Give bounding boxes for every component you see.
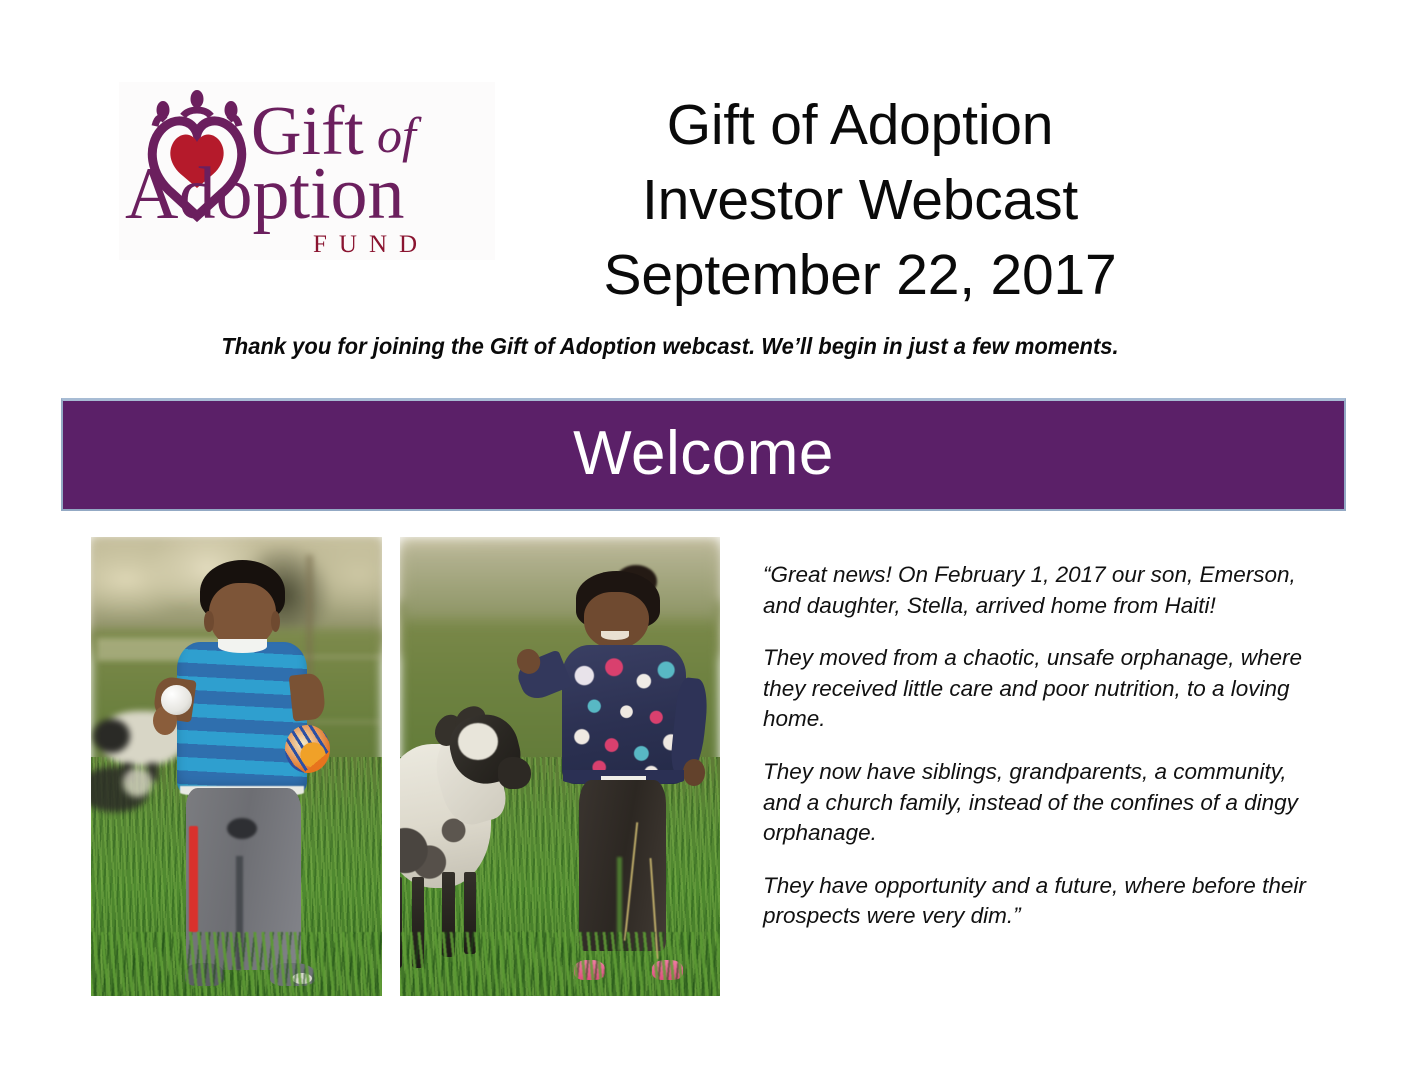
logo-line-2: Adoption <box>125 153 405 235</box>
lamb-head-wool <box>458 723 498 760</box>
welcome-banner: Welcome <box>61 398 1346 511</box>
foreground-grass <box>400 932 720 996</box>
boy-pants-shadow <box>227 818 257 839</box>
boy-pants-red-stripe <box>189 826 197 932</box>
boy-ear-right <box>271 611 280 632</box>
page-title: Gift of Adoption Investor Webcast Septem… <box>500 88 1220 314</box>
lamb-muzzle <box>498 757 532 789</box>
title-line-3: September 22, 2017 <box>500 238 1220 313</box>
testimonial-quote: “Great news! On February 1, 2017 our son… <box>763 560 1316 932</box>
girl-dark-leggings <box>579 780 666 952</box>
boy-ear-left <box>204 611 213 632</box>
foreground-grass <box>91 932 382 996</box>
gift-of-adoption-logo: Gift of Adoption FUND <box>119 82 495 260</box>
testimonial-paragraph-2: They moved from a chaotic, unsafe orphan… <box>763 643 1316 735</box>
testimonial-paragraph-1: “Great news! On February 1, 2017 our son… <box>763 560 1316 621</box>
testimonial-paragraph-3: They now have siblings, grandparents, a … <box>763 757 1316 849</box>
photo-boy-scene <box>91 537 382 996</box>
photo-girl-with-lamb <box>400 537 720 996</box>
photo-boy-with-ball <box>91 537 382 996</box>
title-line-2: Investor Webcast <box>500 163 1220 238</box>
photo-girl-scene <box>400 537 720 996</box>
logo-artwork: Gift of Adoption FUND <box>119 82 495 260</box>
testimonial-paragraph-4: They have opportunity and a future, wher… <box>763 871 1316 932</box>
girl-polka-dot-jacket <box>562 645 686 784</box>
white-ball <box>161 685 193 715</box>
welcome-banner-title: Welcome <box>573 423 834 485</box>
slide-header: Gift of Adoption FUND Gift of Adoption I… <box>0 0 1408 390</box>
boy-striped-shirt <box>177 642 307 794</box>
girl-face <box>584 592 649 649</box>
colorful-ball <box>285 725 330 774</box>
title-line-1: Gift of Adoption <box>500 88 1220 163</box>
girl-figure <box>550 571 691 980</box>
logo-line-3: FUND <box>313 231 429 258</box>
boy-shirt-collar <box>218 639 266 653</box>
background-sheep-2 <box>91 767 149 813</box>
boy-figure <box>167 560 318 982</box>
girl-lowered-hand <box>683 759 706 786</box>
welcome-note: Thank you for joining the Gift of Adopti… <box>44 333 1297 360</box>
